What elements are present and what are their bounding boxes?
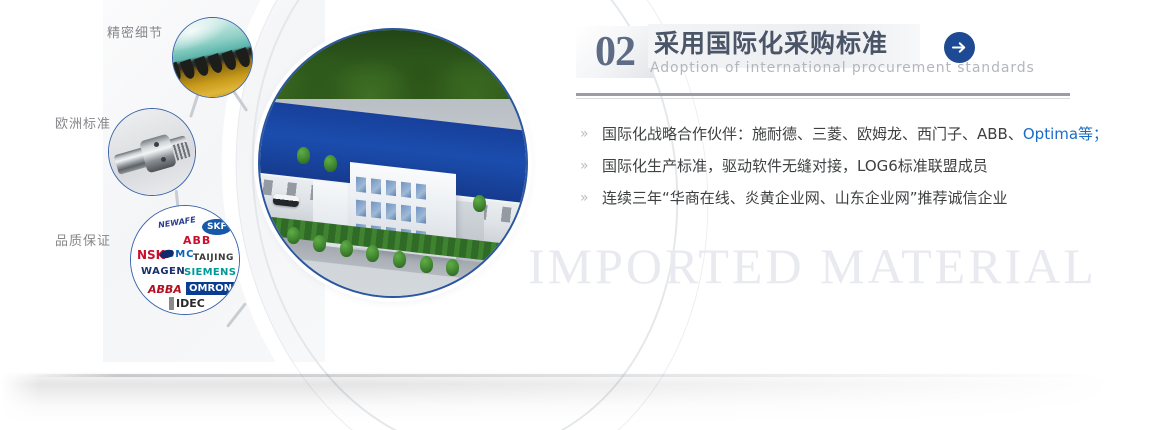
tree	[340, 240, 353, 257]
section-subtitle: Adoption of international procurement st…	[650, 60, 1035, 76]
list-item-text: 国际化生产标准，驱动软件无缝对接，LOG6标准联盟成员	[602, 150, 988, 182]
chevron-double-right-icon: »	[576, 150, 602, 182]
brand-logo-abb: ABB	[183, 234, 211, 247]
chevron-double-right-icon: »	[576, 182, 602, 214]
arrow-right-icon[interactable]	[944, 32, 975, 63]
list-item: » 国际化生产标准，驱动软件无缝对接，LOG6标准联盟成员	[576, 150, 1086, 182]
tree	[393, 251, 406, 268]
page-stage: 精密细节 欧洲标准 品质保证 NEWAFE SKF ABB NSK SMC	[0, 0, 1150, 430]
label-european-standard: 欧洲标准	[55, 113, 111, 132]
chevron-double-right-icon: »	[576, 118, 602, 150]
tree	[324, 155, 337, 172]
section-number-badge: 02	[576, 26, 654, 78]
ball-screw-photo	[108, 108, 196, 196]
section-number: 02	[576, 26, 654, 78]
watermark-text: IMPORTED MATERIAL	[528, 236, 1097, 296]
brand-logo-siemens: SIEMENS	[184, 267, 236, 278]
label-precision-detail: 精密细节	[107, 22, 163, 41]
list-item-text: 连续三年“华商在线、炎黄企业网、山东企业网”推荐诚信企业	[602, 182, 1008, 214]
list-item-text: 国际化战略合作伙伴：施耐德、三菱、欧姆龙、西门子、ABB、Optima等；	[602, 118, 1108, 150]
tree	[287, 227, 300, 244]
footer-shadow-band	[0, 372, 1150, 424]
list-item-accent-text: Optima等；	[1023, 125, 1108, 143]
tree	[473, 195, 486, 212]
tree	[420, 256, 433, 273]
brand-logos-photo: NEWAFE SKF ABB NSK SMC TAIJING WAGEN SIE…	[130, 205, 240, 315]
brand-logo-wagen: WAGEN	[141, 266, 185, 277]
label-quality-assurance: 品质保证	[55, 230, 111, 249]
footer-shadow-line	[30, 374, 1120, 377]
factory-aerial-photo	[258, 28, 528, 298]
tree	[446, 259, 459, 276]
heading-divider	[576, 93, 1070, 99]
tree	[313, 235, 326, 252]
feature-list: » 国际化战略合作伙伴：施耐德、三菱、欧姆龙、西门子、ABB、Optima等； …	[576, 118, 1086, 214]
list-item: » 连续三年“华商在线、炎黄企业网、山东企业网”推荐诚信企业	[576, 182, 1086, 214]
brand-logo-idec: IDEC	[169, 297, 205, 310]
list-item: » 国际化战略合作伙伴：施耐德、三菱、欧姆龙、西门子、ABB、Optima等；	[576, 118, 1086, 150]
brand-logo-taijing: TAIJING	[193, 253, 234, 263]
brand-logo-abba: ABBA	[148, 283, 182, 296]
tree	[297, 147, 310, 164]
brand-logo-omron: OMRON	[186, 282, 235, 295]
gear-teeth-closeup-photo	[172, 17, 253, 98]
brand-logo-skf: SKF	[202, 219, 232, 235]
